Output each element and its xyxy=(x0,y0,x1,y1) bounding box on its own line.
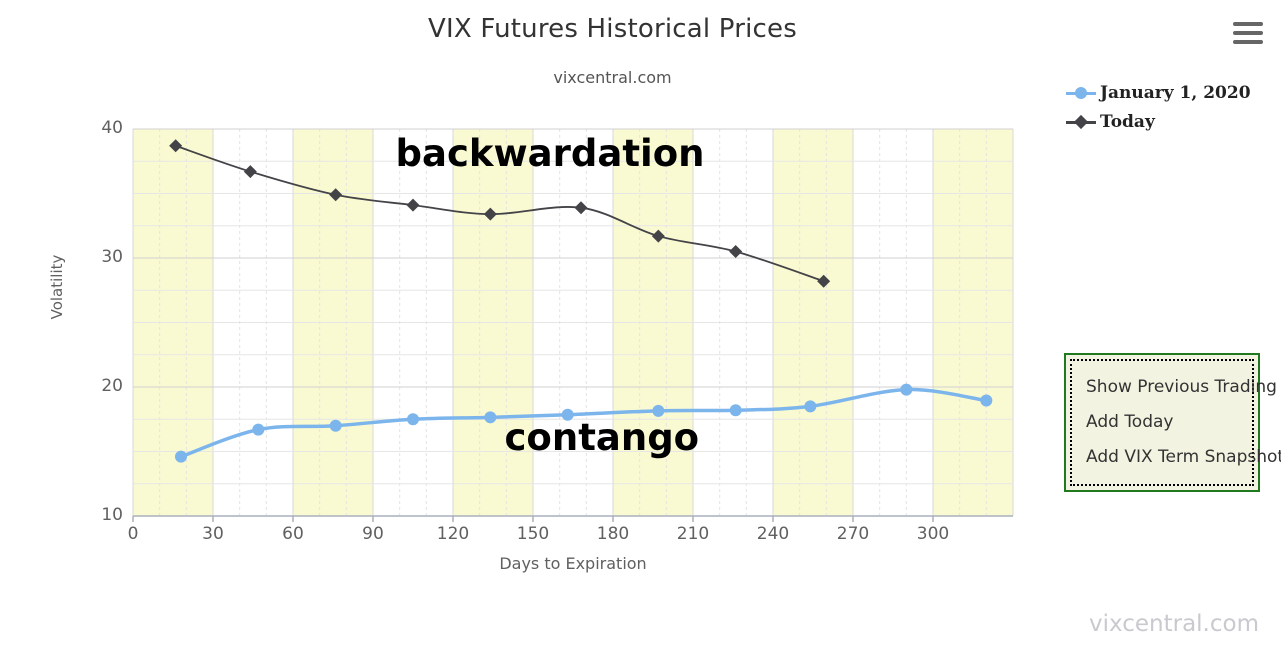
data-point-marker xyxy=(252,424,264,436)
x-tick-label: 0 xyxy=(103,524,163,544)
data-point-marker xyxy=(730,404,742,416)
x-tick-label: 60 xyxy=(263,524,323,544)
chart-legend: January 1, 2020 Today xyxy=(1066,78,1266,136)
x-tick-label: 30 xyxy=(183,524,243,544)
data-point-marker xyxy=(175,451,187,463)
legend-item-label: Today xyxy=(1100,112,1155,132)
watermark: vixcentral.com xyxy=(1089,611,1259,637)
data-point-marker xyxy=(804,400,816,412)
x-tick-label: 240 xyxy=(743,524,803,544)
y-tick-label: 20 xyxy=(81,376,123,396)
data-point-marker xyxy=(729,245,742,258)
x-tick-label: 180 xyxy=(583,524,643,544)
add-vix-term-snapshot-button[interactable]: Add VIX Term Snapshot xyxy=(1072,440,1252,475)
data-point-marker xyxy=(575,201,588,214)
data-point-marker xyxy=(330,420,342,432)
x-tick-label: 150 xyxy=(503,524,563,544)
y-tick-label: 10 xyxy=(81,505,123,525)
data-point-marker xyxy=(484,411,496,423)
add-today-button[interactable]: Add Today xyxy=(1072,405,1252,440)
legend-item-today[interactable]: Today xyxy=(1066,107,1266,136)
x-tick-label: 120 xyxy=(423,524,483,544)
chart-annotation: contango xyxy=(505,416,700,459)
x-tick-label: 300 xyxy=(903,524,963,544)
y-tick-label: 40 xyxy=(81,118,123,138)
circle-marker-icon xyxy=(1066,83,1096,103)
show-previous-trading-day-button[interactable]: Show Previous Trading Day xyxy=(1072,370,1252,405)
x-axis-title: Days to Expiration xyxy=(133,554,1013,573)
legend-item-label: January 1, 2020 xyxy=(1100,83,1251,103)
diamond-marker-icon xyxy=(1066,112,1096,132)
y-axis-title: Volatility xyxy=(48,227,66,347)
x-tick-label: 210 xyxy=(663,524,723,544)
data-point-marker xyxy=(244,165,257,178)
legend-item-january-1-2020[interactable]: January 1, 2020 xyxy=(1066,78,1266,107)
data-point-marker xyxy=(900,384,912,396)
action-button-panel-inner: Show Previous Trading Day Add Today Add … xyxy=(1070,359,1254,486)
data-point-marker xyxy=(407,199,420,212)
data-point-marker xyxy=(407,413,419,425)
action-button-panel: Show Previous Trading Day Add Today Add … xyxy=(1064,353,1260,492)
y-tick-label: 30 xyxy=(81,247,123,267)
x-tick-label: 90 xyxy=(343,524,403,544)
x-tick-label: 270 xyxy=(823,524,883,544)
chart-annotation: backwardation xyxy=(396,132,705,175)
data-point-marker xyxy=(980,395,992,407)
chart-page: VIX Futures Historical Prices vixcentral… xyxy=(0,0,1281,645)
